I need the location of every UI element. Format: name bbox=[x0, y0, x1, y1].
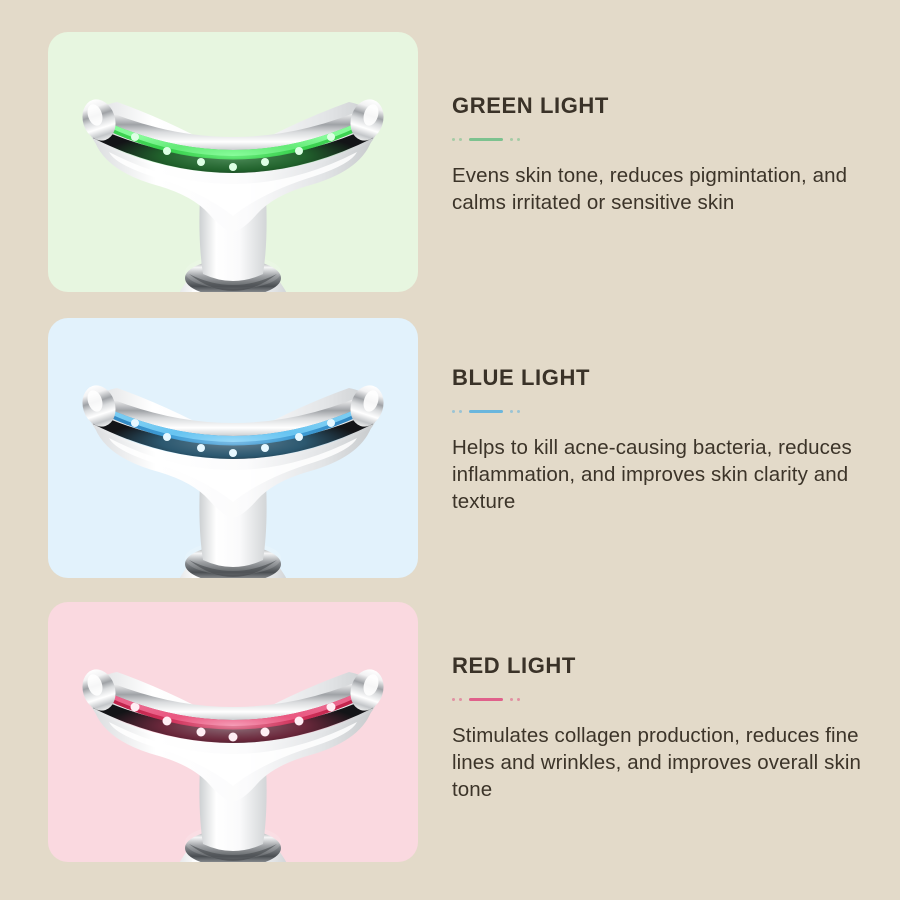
device-image-card-blue bbox=[48, 318, 418, 578]
light-description-red: Stimulates collagen production, reduces … bbox=[452, 722, 872, 803]
text-column-green: GREEN LIGHT Evens skin tone, reduces pig… bbox=[452, 32, 882, 216]
divider-blue bbox=[452, 408, 882, 414]
light-description-blue: Helps to kill acne-causing bacteria, red… bbox=[452, 434, 872, 515]
light-description-green: Evens skin tone, reduces pigmintation, a… bbox=[452, 162, 872, 216]
divider-red bbox=[452, 696, 882, 702]
divider-green bbox=[452, 136, 882, 142]
light-section-green: GREEN LIGHT Evens skin tone, reduces pig… bbox=[0, 32, 900, 292]
light-title-blue: BLUE LIGHT bbox=[452, 366, 882, 390]
device-image-card-green bbox=[48, 32, 418, 292]
device-illustration-red bbox=[63, 630, 403, 862]
device-illustration-blue bbox=[63, 346, 403, 578]
light-section-blue: BLUE LIGHT Helps to kill acne-causing ba… bbox=[0, 318, 900, 578]
light-title-red: RED LIGHT bbox=[452, 654, 882, 678]
text-column-red: RED LIGHT Stimulates collagen production… bbox=[452, 602, 882, 803]
device-illustration-green bbox=[63, 60, 403, 292]
text-column-blue: BLUE LIGHT Helps to kill acne-causing ba… bbox=[452, 318, 882, 515]
light-section-red: RED LIGHT Stimulates collagen production… bbox=[0, 602, 900, 862]
device-image-card-red bbox=[48, 602, 418, 862]
light-title-green: GREEN LIGHT bbox=[452, 94, 882, 118]
light-therapy-infographic: GREEN LIGHT Evens skin tone, reduces pig… bbox=[0, 0, 900, 900]
